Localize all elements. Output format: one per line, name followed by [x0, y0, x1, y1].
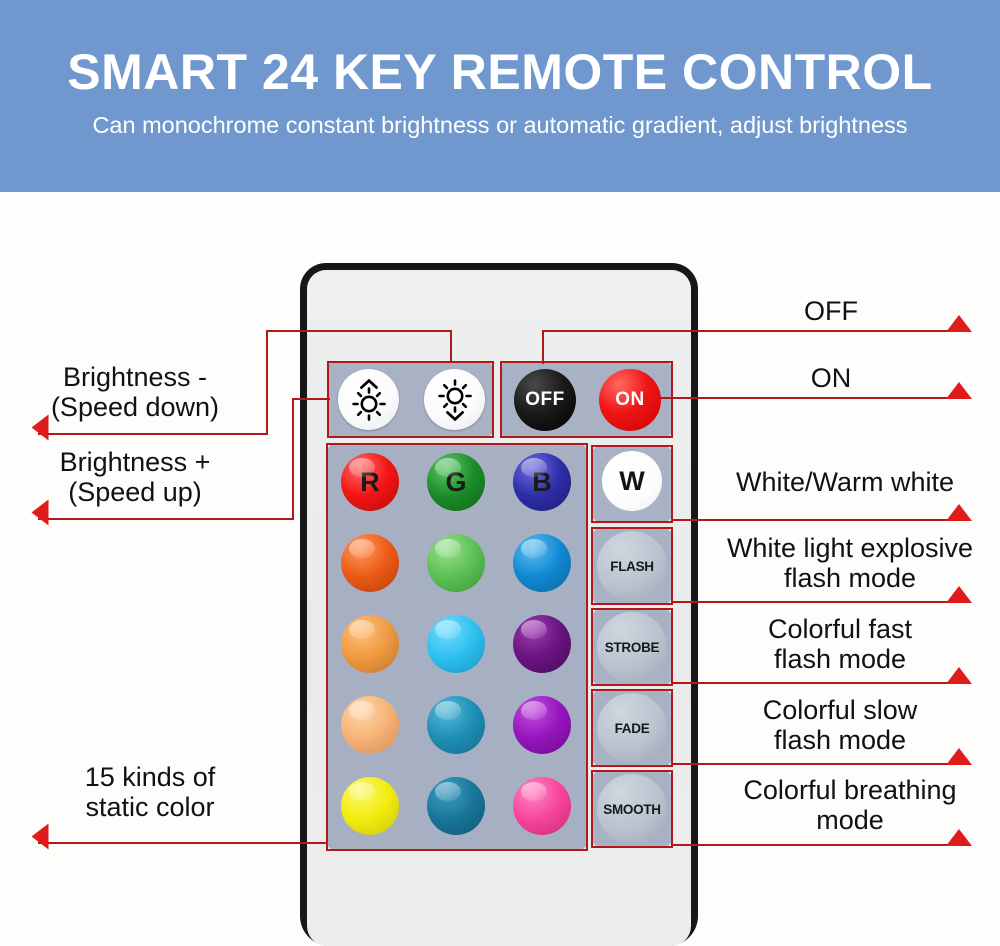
arrowhead-static-color	[32, 824, 49, 850]
leader-on-horiz	[660, 397, 966, 399]
arrowhead-on	[946, 382, 972, 399]
leader-brightness-up-base	[38, 518, 294, 520]
page-title: SMART 24 KEY REMOTE CONTROL	[0, 46, 1000, 99]
fade-button-highlight	[591, 689, 673, 767]
color-grid-highlight	[326, 443, 588, 851]
label-brightness-up-line2: (Speed up)	[0, 477, 270, 507]
infographic-page: SMART 24 KEY REMOTE CONTROL Can monochro…	[0, 0, 1000, 946]
label-flash-line2: flash mode	[700, 563, 1000, 593]
label-static-color-line2: static color	[0, 792, 300, 822]
leader-brightness-down-top	[266, 330, 452, 332]
leader-off-vert	[542, 330, 544, 364]
leader-white-horiz	[671, 519, 966, 521]
label-static-color: 15 kinds of static color	[0, 762, 300, 822]
strobe-button-highlight	[591, 608, 673, 686]
leader-strobe-horiz	[671, 682, 966, 684]
label-static-color-line1: 15 kinds of	[0, 762, 300, 792]
label-strobe-line2: flash mode	[700, 644, 980, 674]
leader-off-horiz	[542, 330, 966, 332]
label-white: White/Warm white	[700, 467, 990, 497]
label-brightness-down: Brightness - (Speed down)	[0, 362, 270, 422]
arrowhead-off	[946, 315, 972, 332]
leader-brightness-up-vert	[292, 398, 294, 520]
flash-button-highlight	[591, 527, 673, 605]
label-flash-line1: White light explosive	[700, 533, 1000, 563]
leader-brightness-down-drop	[450, 330, 452, 362]
label-smooth: Colorful breathing mode	[700, 775, 1000, 835]
leader-static-color	[38, 842, 328, 844]
label-brightness-up-line1: Brightness +	[0, 447, 270, 477]
header-banner: SMART 24 KEY REMOTE CONTROL Can monochro…	[0, 0, 1000, 192]
label-white-line1: White/Warm white	[700, 467, 990, 497]
label-smooth-line1: Colorful breathing	[700, 775, 1000, 805]
leader-smooth-horiz	[671, 844, 966, 846]
label-strobe: Colorful fast flash mode	[700, 614, 980, 674]
label-fade-line2: flash mode	[700, 725, 980, 755]
leader-brightness-up-top	[292, 398, 330, 400]
label-brightness-up: Brightness + (Speed up)	[0, 447, 270, 507]
smooth-button-highlight	[591, 770, 673, 848]
arrowhead-white	[946, 504, 972, 521]
leader-flash-horiz	[671, 601, 966, 603]
label-brightness-down-line2: (Speed down)	[0, 392, 270, 422]
white-button-highlight	[591, 445, 673, 523]
page-subtitle: Can monochrome constant brightness or au…	[0, 112, 1000, 139]
label-off: OFF	[716, 296, 946, 326]
label-on: ON	[716, 363, 946, 393]
label-fade: Colorful slow flash mode	[700, 695, 980, 755]
label-brightness-down-line1: Brightness -	[0, 362, 270, 392]
label-strobe-line1: Colorful fast	[700, 614, 980, 644]
leader-brightness-down-base	[38, 433, 268, 435]
label-off-line1: OFF	[716, 296, 946, 326]
label-smooth-line2: mode	[700, 805, 1000, 835]
brightness-panel-highlight	[327, 361, 494, 438]
label-on-line1: ON	[716, 363, 946, 393]
leader-fade-horiz	[671, 763, 966, 765]
power-panel-highlight	[500, 361, 673, 438]
label-flash: White light explosive flash mode	[700, 533, 1000, 593]
label-fade-line1: Colorful slow	[700, 695, 980, 725]
